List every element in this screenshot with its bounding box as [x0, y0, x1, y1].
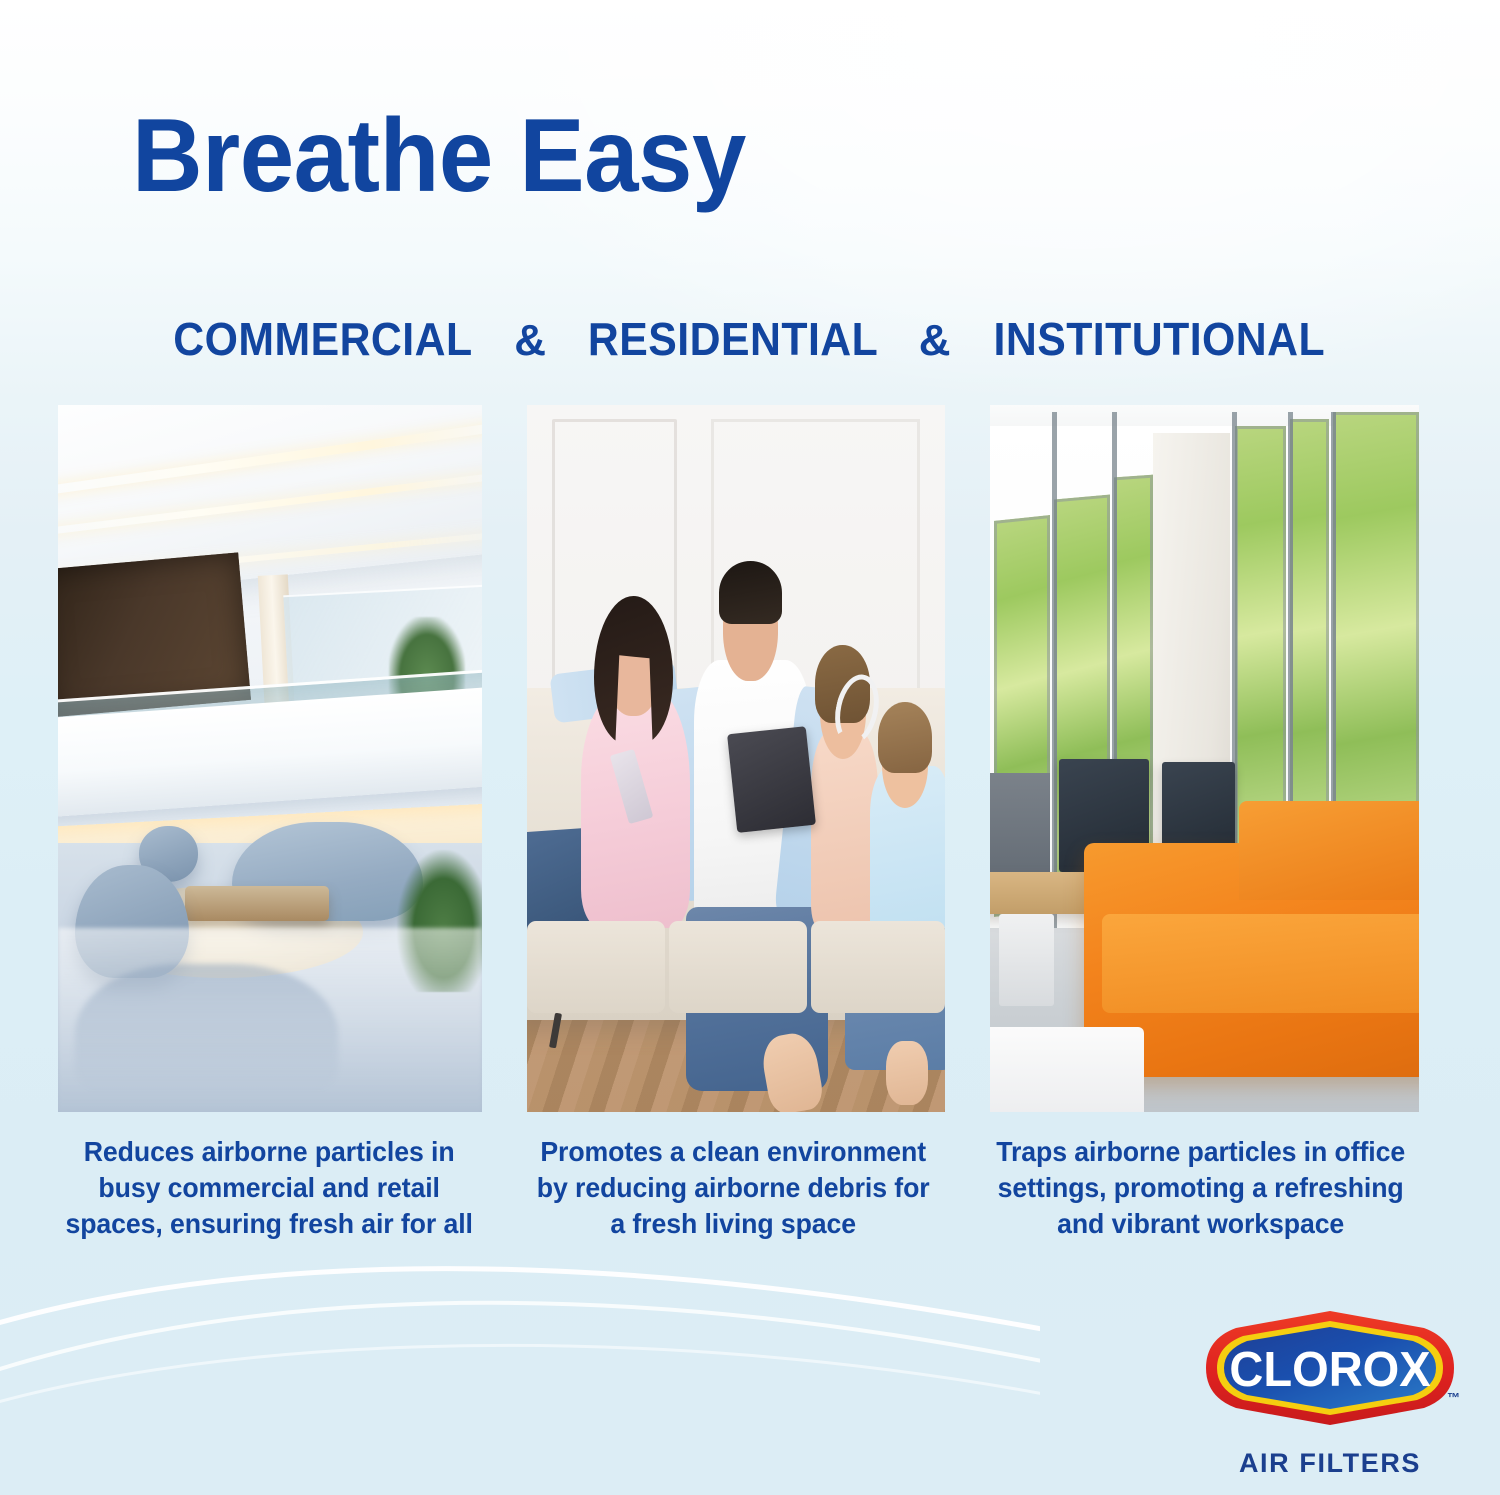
logo-tagline: AIR FILTERS: [1196, 1448, 1464, 1479]
orange-sofa-backrest: [1239, 801, 1419, 900]
photo-residential-family: [527, 405, 945, 1112]
living-room-scene: [527, 405, 945, 1112]
seat-cushion: [527, 921, 665, 1013]
logo-brand-text: CLOROX: [1229, 1343, 1430, 1397]
bare-foot: [886, 1041, 928, 1105]
trademark-symbol: ™: [1447, 1390, 1460, 1405]
separator-ampersand-1: &: [514, 316, 546, 366]
clorox-logo: CLOROX ™: [1196, 1308, 1464, 1444]
image-panel-row: [58, 405, 1414, 1112]
orange-sofa-seat: [1102, 914, 1419, 1013]
man-hair: [719, 561, 782, 625]
mall-chair-reflection: [75, 964, 338, 1091]
caption-row: Reduces airborne particles in busy comme…: [58, 1134, 1414, 1241]
separator-ampersand-2: &: [919, 316, 951, 366]
cubicle-partition: [990, 773, 1050, 879]
category-residential: RESIDENTIAL: [587, 312, 877, 366]
drawer-pedestal: [999, 914, 1055, 1006]
office-scene: [990, 405, 1419, 1112]
window-mullion: [1052, 412, 1057, 935]
photo-institutional-office: [990, 405, 1419, 1112]
category-subheading: COMMERCIAL & RESIDENTIAL & INSTITUTIONAL: [0, 312, 1500, 366]
page-title: Breathe Easy: [132, 104, 746, 208]
caption-residential: Promotes a clean environment by reducing…: [532, 1134, 936, 1241]
seat-cushion: [811, 921, 945, 1013]
older-girl-torso: [811, 730, 878, 928]
seat-cushion: [669, 921, 807, 1013]
white-coffee-table: [990, 1027, 1144, 1112]
caption-commercial: Reduces airborne particles in busy comme…: [64, 1134, 474, 1241]
tablet-device: [727, 726, 816, 833]
poster-root: Breathe Easy COMMERCIAL & RESIDENTIAL & …: [0, 0, 1500, 1495]
mall-scene: [58, 405, 482, 1112]
category-commercial: COMMERCIAL: [174, 312, 473, 366]
younger-girl-hair: [878, 702, 932, 773]
category-institutional: INSTITUTIONAL: [993, 312, 1325, 366]
mall-coffee-table: [185, 886, 329, 921]
photo-commercial-mall: [58, 405, 482, 1112]
caption-institutional: Traps airborne particles in office setti…: [993, 1134, 1407, 1241]
